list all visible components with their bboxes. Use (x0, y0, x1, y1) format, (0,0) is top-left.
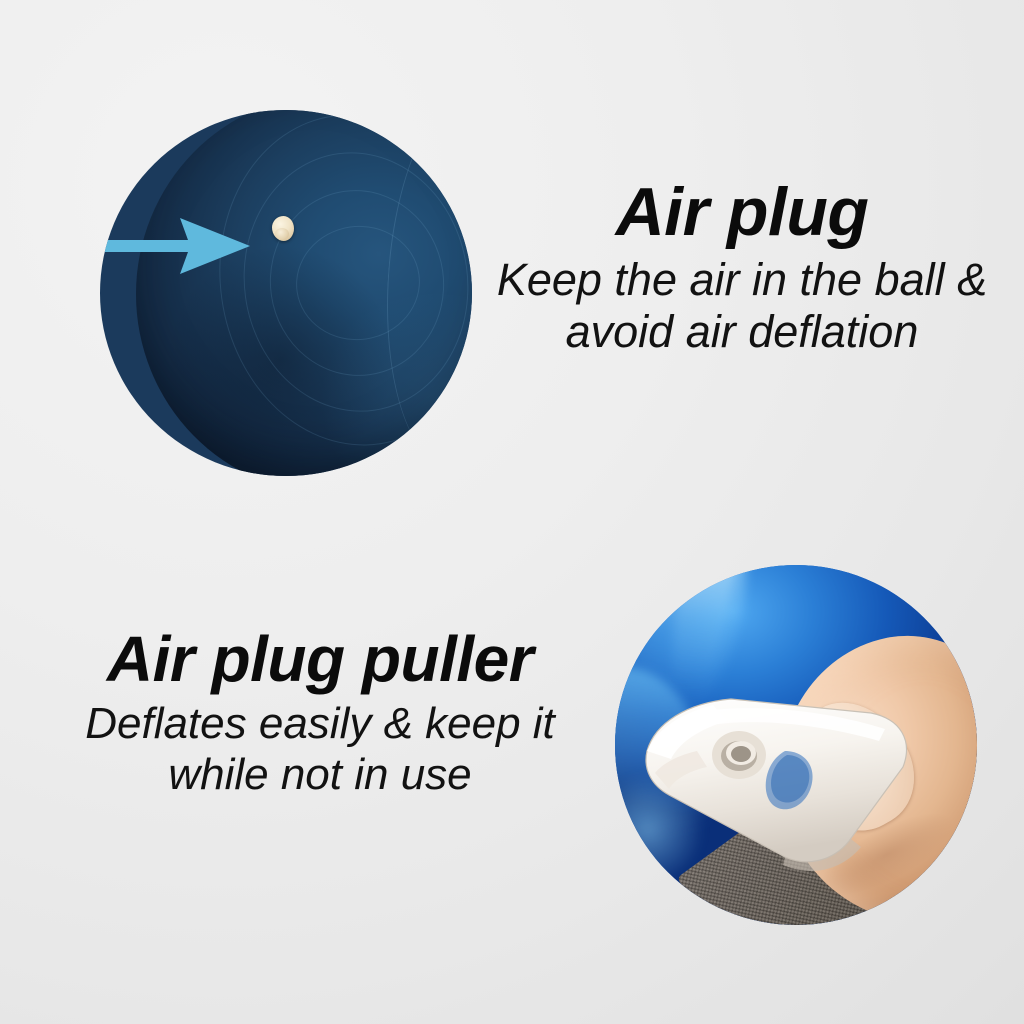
navy-exercise-ball-with-air-plug-photo (100, 110, 472, 476)
air-plug-nub (272, 216, 294, 241)
air-plug-headline: Air plug (492, 176, 992, 248)
plug-puller-subline: Deflates easily & keep it while not in u… (30, 698, 610, 800)
plug-puller-headline: Air plug puller (30, 626, 610, 694)
white-plug-puller-tool (635, 655, 935, 885)
air-plug-text-block: Air plug Keep the air in the ball & avoi… (492, 176, 992, 358)
navy-ball-body (136, 110, 472, 476)
air-plug-subline: Keep the air in the ball & avoid air def… (492, 254, 992, 358)
product-feature-infographic: Air plug Keep the air in the ball & avoi… (0, 0, 1024, 1024)
plug-puller-text-block: Air plug puller Deflates easily & keep i… (30, 626, 610, 800)
pointer-arrow-icon (100, 218, 250, 274)
hand-holding-white-plug-puller-photo (615, 565, 977, 925)
